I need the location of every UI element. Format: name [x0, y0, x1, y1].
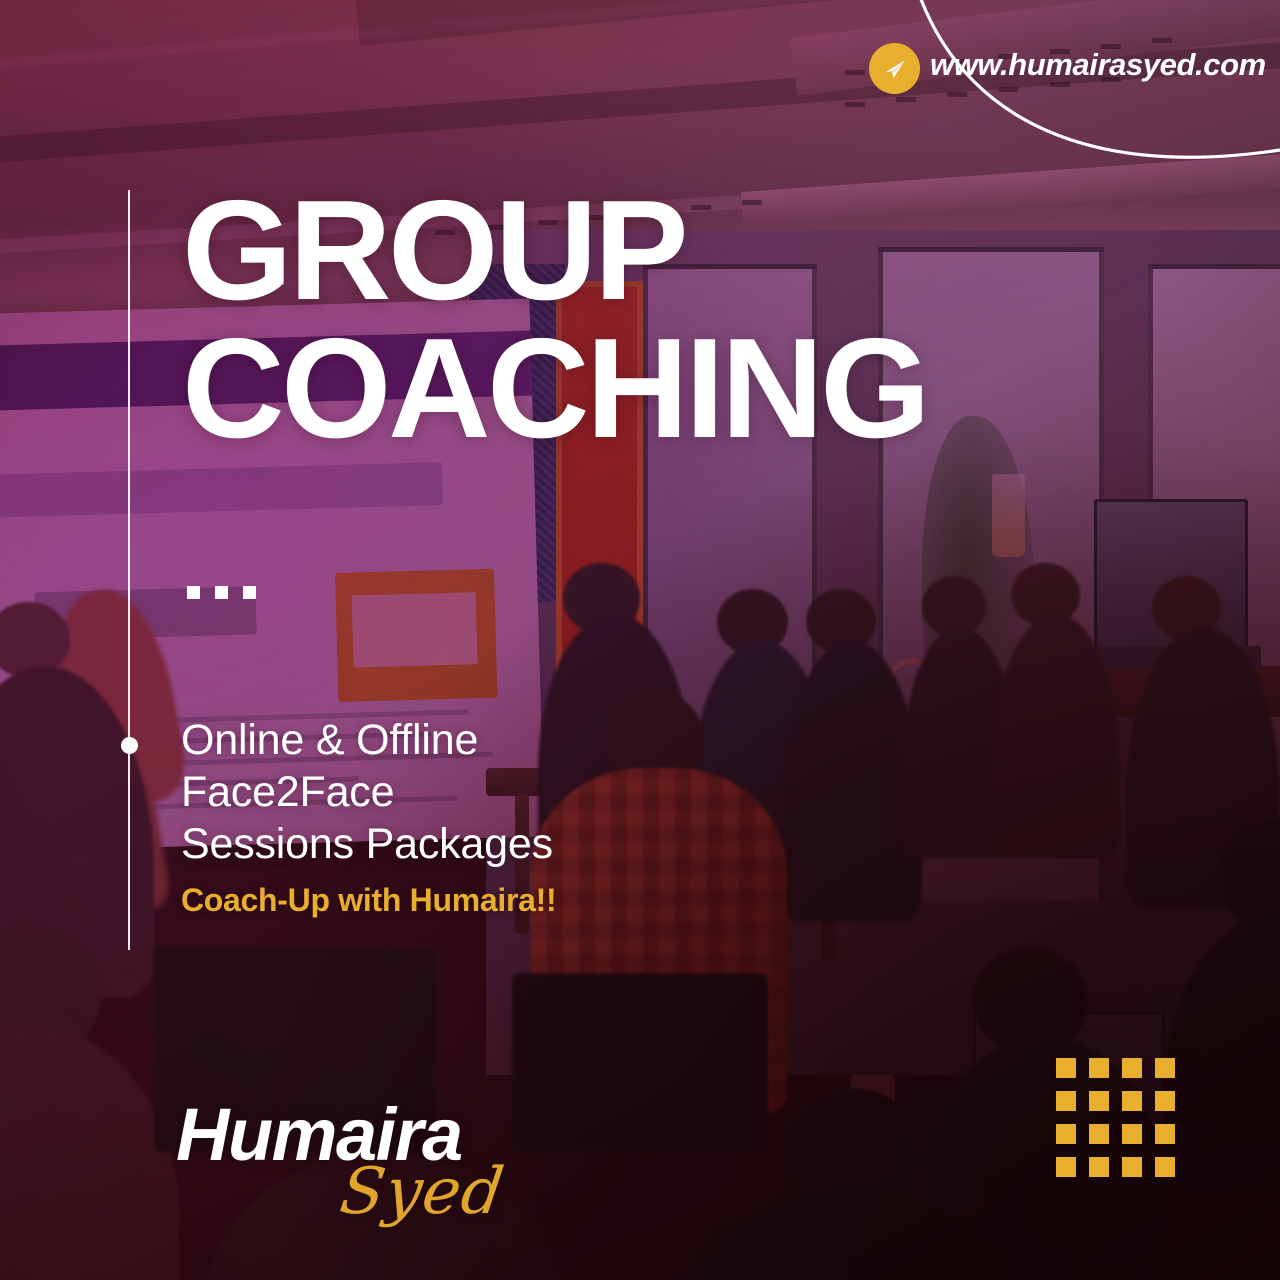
grid-square-icon — [1089, 1091, 1109, 1111]
square-dot-icon — [215, 586, 228, 599]
promo-poster: www.humairasyed.com GROUP COACHING Onlin… — [0, 0, 1280, 1280]
square-dot-icon — [243, 586, 256, 599]
body-line-3: Sessions Packages — [181, 818, 821, 870]
website-url[interactable]: www.humairasyed.com — [930, 47, 1266, 83]
tagline: Coach-Up with Humaira!! — [181, 882, 821, 919]
grid-square-icon — [1089, 1157, 1109, 1177]
square-dot-icon — [187, 586, 200, 599]
grid-square-icon — [1056, 1157, 1076, 1177]
grid-square-icon — [1089, 1124, 1109, 1144]
title-line-2: COACHING — [182, 320, 1182, 458]
logo-surname: Syed — [337, 1160, 509, 1224]
brand-logo: Humaira Syed — [176, 1098, 536, 1228]
grid-square-icon — [1155, 1157, 1175, 1177]
grid-square-icon — [1056, 1058, 1076, 1078]
grid-square-icon — [1056, 1124, 1076, 1144]
body-text-block: Online & Offline Face2Face Sessions Pack… — [181, 714, 821, 919]
body-line-2: Face2Face — [181, 766, 821, 818]
grid-square-icon — [1089, 1058, 1109, 1078]
grid-square-icon — [1122, 1124, 1142, 1144]
body-line-1: Online & Offline — [181, 714, 821, 766]
dot-grid-decoration — [1056, 1058, 1175, 1177]
grid-square-icon — [1122, 1091, 1142, 1111]
vertical-divider-line — [128, 190, 130, 950]
grid-square-icon — [1056, 1091, 1076, 1111]
grid-square-icon — [1155, 1058, 1175, 1078]
three-dots-decoration — [187, 586, 256, 599]
grid-square-icon — [1155, 1091, 1175, 1111]
title-line-1: GROUP — [182, 182, 1182, 320]
grid-square-icon — [1155, 1124, 1175, 1144]
grid-square-icon — [1122, 1157, 1142, 1177]
grid-square-icon — [1122, 1058, 1142, 1078]
page-title: GROUP COACHING — [182, 182, 1182, 457]
bullet-dot-icon — [121, 737, 138, 754]
paper-plane-icon — [869, 43, 920, 94]
